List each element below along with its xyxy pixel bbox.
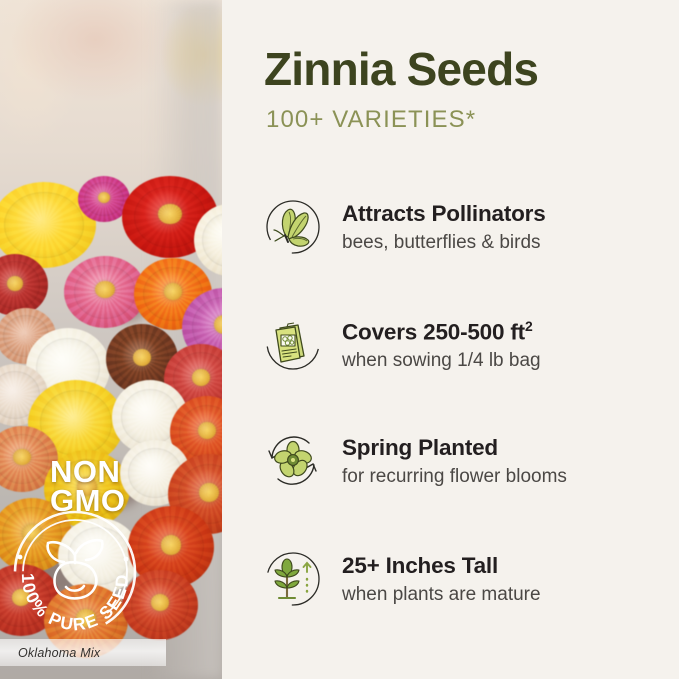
seed-sprout-icon — [48, 540, 103, 598]
feature-row-pollinators: Attracts Pollinators bees, butterflies &… — [262, 190, 672, 264]
feature-row-coverage: Covers 250-500 ft2 when sowing 1/4 lb ba… — [262, 306, 672, 380]
product-infographic: NON GMO 100% PURE SE — [0, 0, 679, 679]
feature-title: Attracts Pollinators — [342, 200, 546, 227]
feature-title-main: Covers 250-500 ft — [342, 319, 525, 344]
feature-subtitle: when plants are mature — [342, 582, 541, 607]
seed-packet-icon — [262, 312, 324, 374]
plant-height-arrow-icon — [262, 548, 324, 610]
seal-curved-text: 100% PURE SEED — [18, 572, 133, 634]
info-panel: Zinnia Seeds 100+ VARIETIES* — [222, 0, 679, 679]
zinnia-bouquet-photo: NON GMO 100% PURE SE — [0, 0, 222, 679]
feature-text-spring-planted: Spring Planted for recurring flower bloo… — [342, 434, 567, 489]
photo-caption-band: Oklahoma Mix — [0, 639, 166, 666]
feature-text-coverage: Covers 250-500 ft2 when sowing 1/4 lb ba… — [342, 313, 541, 374]
feature-row-height: 25+ Inches Tall when plants are mature — [262, 542, 672, 616]
non-gmo-pure-seed-badge: NON GMO 100% PURE SE — [6, 455, 176, 635]
feature-subtitle: for recurring flower blooms — [342, 464, 567, 489]
feature-subtitle: when sowing 1/4 lb bag — [342, 348, 541, 373]
feature-subtitle: bees, butterflies & birds — [342, 230, 546, 255]
feature-title: Spring Planted — [342, 434, 567, 461]
butterfly-pollinator-icon — [262, 196, 324, 258]
svg-text:100% PURE SEED: 100% PURE SEED — [18, 572, 133, 634]
feature-title: 25+ Inches Tall — [342, 552, 541, 579]
feature-row-spring-planted: Spring Planted for recurring flower bloo… — [262, 424, 672, 498]
feature-title-superscript: 2 — [525, 318, 533, 334]
photo-caption-text: Oklahoma Mix — [0, 646, 100, 660]
feature-text-pollinators: Attracts Pollinators bees, butterflies &… — [342, 200, 546, 255]
non-gmo-line-1: NON — [50, 457, 170, 486]
page-title: Zinnia Seeds — [264, 44, 538, 94]
page-subtitle: 100+ VARIETIES* — [266, 106, 476, 134]
pure-seed-seal: 100% PURE SEED — [6, 503, 144, 641]
feature-text-height: 25+ Inches Tall when plants are mature — [342, 552, 541, 607]
flower-recurring-cycle-icon — [262, 430, 324, 492]
feature-title: Covers 250-500 ft2 — [342, 313, 541, 346]
